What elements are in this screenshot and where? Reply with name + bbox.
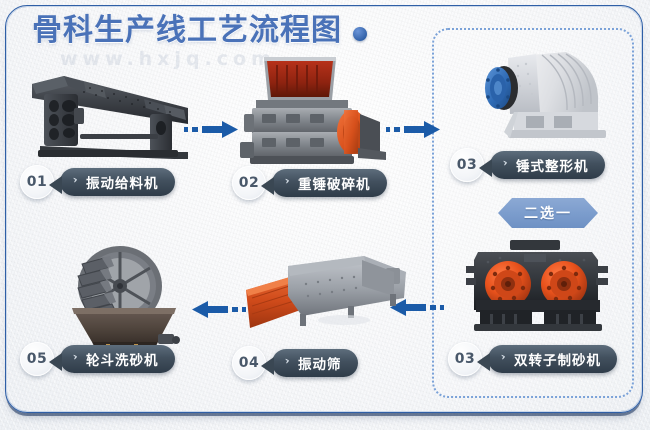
vibrating-feeder-image <box>24 62 192 170</box>
node-label-01[interactable]: › 振动给料机 <box>60 168 175 196</box>
node-label-04[interactable]: › 振动筛 <box>272 349 358 377</box>
page-title: 骨科生产线工艺流程图 <box>32 14 342 48</box>
chevron-right-icon: › <box>72 173 80 187</box>
node-label-05[interactable]: › 轮斗洗砂机 <box>60 345 175 373</box>
node-label-text: 振动筛 <box>298 353 342 373</box>
chevron-right-icon: › <box>72 350 80 364</box>
chevron-right-icon: › <box>500 350 508 364</box>
node-label-03-shaper[interactable]: › 锤式整形机 <box>490 151 605 179</box>
vibrating-screen-image <box>244 250 412 350</box>
title-dot-decoration <box>353 27 367 41</box>
node-label-text: 振动给料机 <box>86 172 159 192</box>
choice-badge: 二选一 <box>498 198 598 228</box>
chevron-right-icon: › <box>502 156 510 170</box>
double-rotor-sand-maker-image <box>464 238 612 338</box>
hammer-crusher-image <box>240 52 400 170</box>
node-label-03-sandmaker[interactable]: › 双转子制砂机 <box>488 345 617 373</box>
node-label-text: 双转子制砂机 <box>514 349 601 369</box>
chevron-right-icon: › <box>284 174 292 188</box>
node-hammer-shaper[interactable]: 03 › 锤式整形机 <box>450 40 630 190</box>
node-label-text: 轮斗洗砂机 <box>86 349 159 369</box>
node-label-text: 重锤破碎机 <box>298 173 371 193</box>
wheel-sand-washer-image <box>58 242 208 352</box>
node-label-02[interactable]: › 重锤破碎机 <box>272 169 387 197</box>
chevron-right-icon: › <box>284 354 292 368</box>
flowchart-canvas: 骨科生产线工艺流程图 www.hxjq.com <box>0 0 650 430</box>
node-hammer-crusher[interactable]: 02 › 重锤破碎机 <box>232 52 412 212</box>
node-label-text: 锤式整形机 <box>516 155 589 175</box>
node-vibrating-screen[interactable]: 04 › 振动筛 <box>232 250 418 390</box>
choice-badge-text: 二选一 <box>524 203 572 223</box>
arrow-crusher-to-shaper <box>386 118 442 142</box>
node-vibrating-feeder[interactable]: 01 › 振动给料机 <box>18 60 198 210</box>
node-double-rotor-sand-maker[interactable]: 03 › 双转子制砂机 <box>448 238 634 388</box>
hammer-shaper-image <box>474 42 614 150</box>
node-wheel-sand-washer[interactable]: 05 › 轮斗洗砂机 <box>20 242 206 387</box>
